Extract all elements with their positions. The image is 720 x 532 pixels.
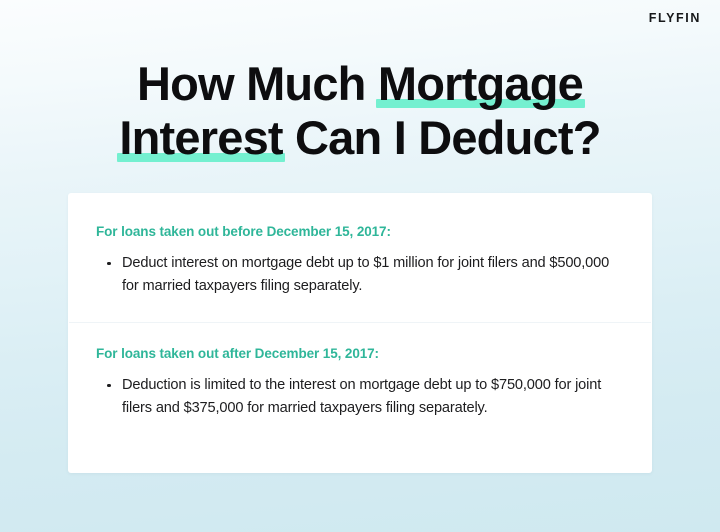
list-item: Deduction is limited to the interest on … (96, 374, 624, 419)
title-line-2: Interest Can I Deduct? (24, 111, 696, 165)
bullet-list-after: Deduction is limited to the interest on … (96, 374, 624, 419)
section-heading-after: For loans taken out after December 15, 2… (96, 346, 624, 362)
title-line-1-before: How Much (137, 57, 378, 110)
slide-canvas: FLYFIN How Much Mortgage Interest Can I … (0, 0, 720, 532)
info-card: For loans taken out before December 15, … (68, 193, 652, 473)
list-item: Deduct interest on mortgage debt up to $… (96, 252, 624, 297)
card-section-before-2017: For loans taken out before December 15, … (68, 193, 652, 322)
title-line-1: How Much Mortgage (24, 57, 696, 111)
flyfin-logo: FLYFIN (649, 12, 701, 25)
title-highlight-interest: Interest (119, 111, 282, 165)
title-line-2-after: Can I Deduct? (283, 111, 601, 164)
card-section-after-2017: For loans taken out after December 15, 2… (68, 323, 652, 419)
title-highlight-mortgage: Mortgage (378, 57, 583, 111)
bullet-list-before: Deduct interest on mortgage debt up to $… (96, 252, 624, 297)
section-heading-before: For loans taken out before December 15, … (96, 224, 624, 240)
page-title: How Much Mortgage Interest Can I Deduct? (0, 57, 720, 165)
